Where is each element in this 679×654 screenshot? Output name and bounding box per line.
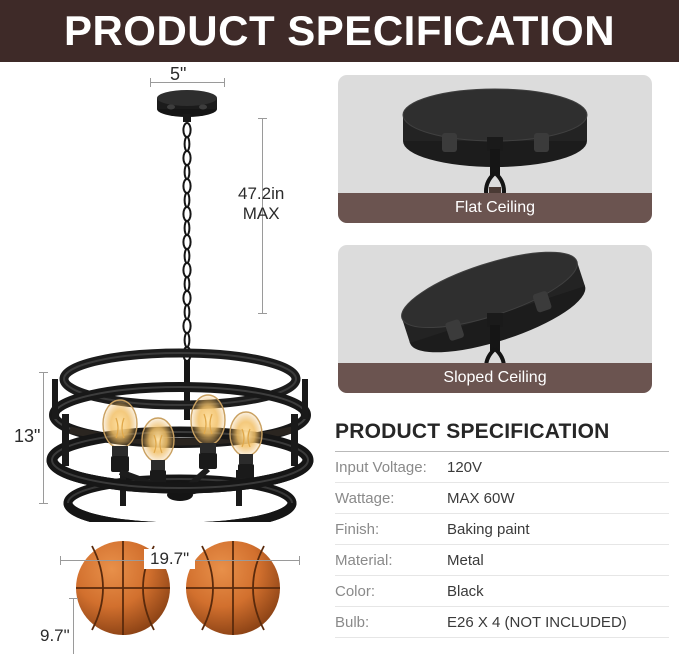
specification-title: PRODUCT SPECIFICATION xyxy=(335,420,669,451)
fixture-height-tick-bottom xyxy=(39,503,48,504)
spec-label: Color: xyxy=(335,583,447,600)
basketball-height-dimension-line xyxy=(73,598,74,654)
spec-value: Baking paint xyxy=(447,521,530,538)
flat-ceiling-panel: Flat Ceiling xyxy=(338,75,652,223)
max-drop-tick-top xyxy=(258,118,267,119)
table-row: Wattage: MAX 60W xyxy=(335,483,669,514)
max-drop-qualifier: MAX xyxy=(238,204,284,224)
canopy-width-tick-left xyxy=(150,78,151,87)
table-row: Color: Black xyxy=(335,576,669,607)
spec-value: Metal xyxy=(447,552,484,569)
table-row: Bulb: E26 X 4 (NOT INCLUDED) xyxy=(335,607,669,638)
page-header-bar: PRODUCT SPECIFICATION xyxy=(0,0,679,62)
spec-label: Finish: xyxy=(335,521,447,538)
fixture-width-tick-right xyxy=(299,556,300,565)
fixture-width-label: 19.7" xyxy=(144,549,195,569)
spec-label: Input Voltage: xyxy=(335,459,447,476)
sloped-ceiling-panel: Sloped Ceiling xyxy=(338,245,652,393)
max-drop-label: 47.2in MAX xyxy=(238,184,284,224)
basketball-height-tick-top xyxy=(69,598,78,599)
spec-value: Black xyxy=(447,583,484,600)
spec-label: Wattage: xyxy=(335,490,447,507)
fixture-height-tick-top xyxy=(39,372,48,373)
table-row: Input Voltage: 120V xyxy=(335,452,669,483)
canopy-width-label: 5" xyxy=(170,64,186,85)
page-title: PRODUCT SPECIFICATION xyxy=(64,10,615,52)
spec-label: Bulb: xyxy=(335,614,447,631)
fixture-height-label: 13" xyxy=(14,426,40,447)
product-specification-page: PRODUCT SPECIFICATION xyxy=(0,0,679,654)
basketball xyxy=(186,541,280,635)
ceiling-canopy xyxy=(157,90,217,122)
chandelier-illustration xyxy=(0,62,325,522)
table-row: Material: Metal xyxy=(335,545,669,576)
table-row: Finish: Baking paint xyxy=(335,514,669,545)
dimension-diagram-column: 5" 47.2in MAX 13" 19.7" 9.7" 19.4" xyxy=(0,62,325,654)
basketball-height-label: 9.7" xyxy=(40,626,70,646)
spec-label: Material: xyxy=(335,552,447,569)
specification-table: PRODUCT SPECIFICATION Input Voltage: 120… xyxy=(335,420,669,638)
canopy-width-tick-right xyxy=(224,78,225,87)
canopy-width-dimension-line xyxy=(150,82,225,83)
cage-front-band xyxy=(52,460,308,488)
flat-ceiling-caption: Flat Ceiling xyxy=(338,193,652,223)
edison-bulb xyxy=(230,412,262,480)
sloped-ceiling-caption: Sloped Ceiling xyxy=(338,363,652,393)
fixture-height-dimension-line xyxy=(43,372,44,504)
edison-bulb xyxy=(191,395,225,469)
edison-bulb xyxy=(103,400,137,472)
spec-value: 120V xyxy=(447,459,482,476)
max-drop-value: 47.2in xyxy=(238,184,284,203)
info-column: Flat Ceiling Sloped Ceiling xyxy=(325,62,679,654)
spec-value: MAX 60W xyxy=(447,490,515,507)
fixture-width-tick-left xyxy=(60,556,61,565)
spec-value: E26 X 4 (NOT INCLUDED) xyxy=(447,614,627,631)
suspension-chain xyxy=(183,123,190,361)
max-drop-tick-bottom xyxy=(258,313,267,314)
